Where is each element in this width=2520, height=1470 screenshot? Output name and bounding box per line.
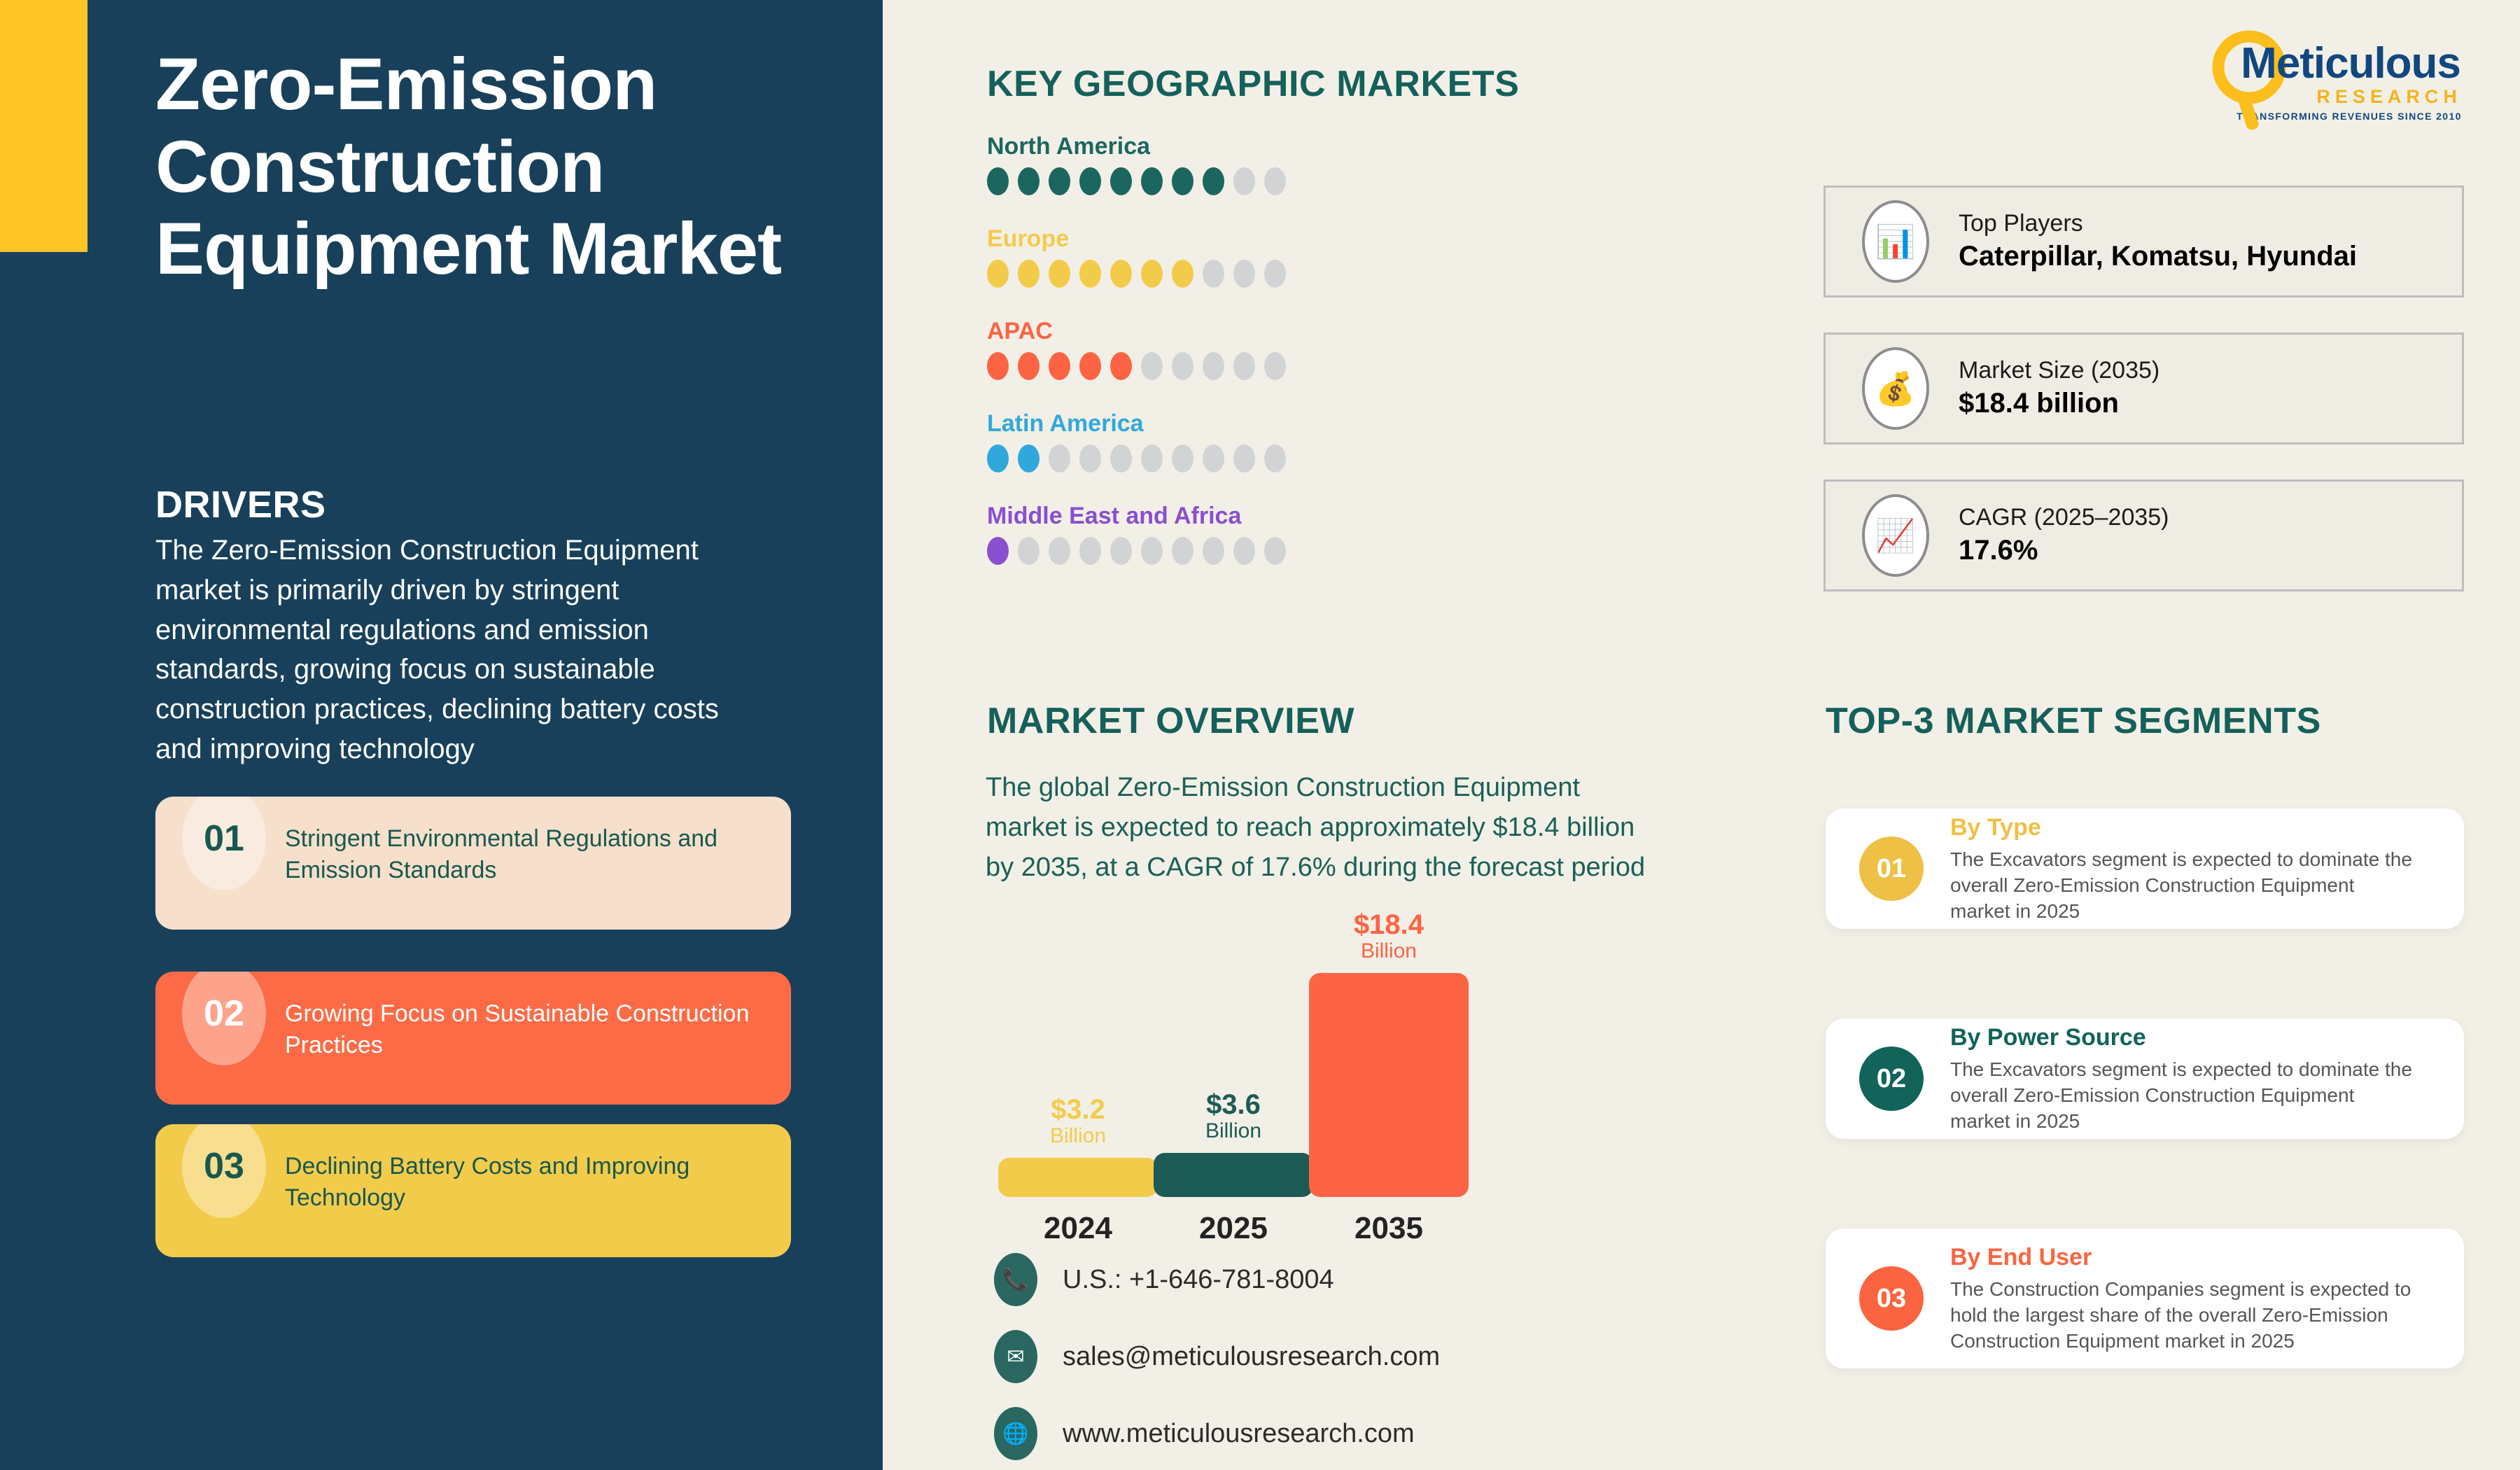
bar-unit-label: Billion [1361,939,1417,964]
driver-card-03[interactable]: 03Declining Battery Costs and Improving … [155,1124,791,1257]
bar-2025 [1154,1153,1313,1197]
chart-up-icon: 📈 [1862,494,1929,577]
geo-dot-filled [1049,167,1070,195]
segment-description: The Construction Companies segment is ex… [1950,1276,2412,1354]
stat-value: $18.4 billion [1959,386,2159,421]
geo-region-europe: Europe [987,225,1286,288]
driver-label: Stringent Environmental Regulations and … [285,823,768,886]
bar-2035 [1309,973,1469,1197]
segment-card-by-end-user[interactable]: 03By End UserThe Construction Companies … [1826,1228,2464,1368]
bar-2024 [998,1158,1158,1197]
driver-number: 02 [204,995,244,1032]
segment-heading: By End User [1950,1243,2412,1272]
segment-heading: By Type [1950,813,2412,842]
bar-chart-icon: 📊 [1862,200,1929,283]
geo-dot-empty [1203,260,1224,288]
driver-label: Declining Battery Costs and Improving Te… [285,1151,768,1214]
bar-value-label: $18.4 [1354,910,1424,939]
geo-region-latin-america: Latin America [987,410,1286,472]
contact-list: 📞U.S.: +1-646-781-8004✉sales@meticulousr… [994,1253,1440,1470]
driver-number-badge: 03 [182,1124,266,1218]
driver-number: 03 [204,1148,244,1184]
geo-dot-empty [1049,537,1070,565]
geo-region-north-america: North America [987,133,1286,195]
geo-dot-empty [1172,537,1193,565]
geo-dot-filled [1110,352,1132,380]
geo-dot-filled [1079,167,1101,195]
left-panel: Zero-Emission Construction Equipment Mar… [0,0,883,1470]
geo-dot-empty [1203,444,1224,472]
geo-dot-empty [1079,444,1101,472]
geo-region-label: Middle East and Africa [987,503,1286,530]
stat-value: Caterpillar, Komatsu, Hyundai [1959,239,2357,274]
drivers-heading: DRIVERS [155,483,326,526]
contact-row-email[interactable]: ✉sales@meticulousresearch.com [994,1330,1440,1383]
page-title: Zero-Emission Construction Equipment Mar… [155,43,827,290]
geo-dot-empty [1233,537,1255,565]
segment-number-badge: 03 [1859,1266,1924,1331]
driver-number-badge: 02 [182,972,266,1065]
drivers-body: The Zero-Emission Construction Equipment… [155,531,757,769]
geo-dot-empty [1141,352,1163,380]
geo-region-label: Europe [987,225,1286,253]
segments-title: TOP-3 MARKET SEGMENTS [1826,700,2321,742]
stat-label: CAGR (2025–2035) [1959,503,2169,533]
stat-card-top-players: 📊Top PlayersCaterpillar, Komatsu, Hyunda… [1823,185,2464,297]
bar-column-2024: $3.2Billion [998,1095,1158,1198]
bar-unit-label: Billion [1205,1119,1261,1144]
geo-dot-empty [1264,260,1286,288]
stat-card-market-size-2035: 💰Market Size (2035)$18.4 billion [1823,332,2464,444]
geo-dot-empty [1172,444,1193,472]
bar-value-label: $3.6 [1206,1090,1261,1119]
geo-dot-filled [1018,260,1039,288]
market-size-bar-chart: $3.2Billion2024$3.6Billion2025$18.4Billi… [986,938,1630,1246]
bar-category-label: 2035 [1309,1211,1469,1246]
globe-icon: 🌐 [994,1407,1037,1460]
bar-value-label: $3.2 [1051,1095,1105,1124]
contact-row-globe[interactable]: 🌐www.meticulousresearch.com [994,1407,1440,1460]
geo-region-apac: APAC [987,318,1286,380]
geo-dot-empty [1264,167,1286,195]
geo-dot-filled [1110,260,1132,288]
geo-region-middle-east-and-africa: Middle East and Africa [987,503,1286,565]
segment-number-badge: 01 [1859,836,1924,901]
geo-dot-filled [987,352,1009,380]
contact-text: www.meticulousresearch.com [1063,1419,1415,1449]
driver-number: 01 [204,820,244,857]
bar-column-2025: $3.6Billion [1154,1090,1313,1198]
geo-dot-empty [1233,167,1255,195]
meticulous-research-logo: Meticulous RESEARCH TRANSFORMING REVENUE… [2220,42,2481,123]
market-overview-body: The global Zero-Emission Construction Eq… [986,768,1658,888]
contact-row-phone[interactable]: 📞U.S.: +1-646-781-8004 [994,1253,1440,1306]
geo-dot-filled [1172,167,1193,195]
driver-number-badge: 01 [182,797,266,890]
segment-card-by-power-source[interactable]: 02By Power SourceThe Excavators segment … [1826,1018,2464,1139]
geo-dot-filled [1049,260,1070,288]
driver-label: Growing Focus on Sustainable Constructio… [285,998,768,1061]
geo-dot-filled [1079,352,1101,380]
geo-dot-row [987,167,1286,195]
geo-dot-row [987,537,1286,565]
geo-dot-empty [1264,537,1286,565]
geo-dot-empty [1233,260,1255,288]
geo-dot-filled [1141,260,1163,288]
geo-dot-empty [1203,352,1224,380]
geo-dot-filled [1018,167,1039,195]
geo-dot-filled [1110,167,1132,195]
geo-dot-filled [1172,260,1193,288]
geo-dot-empty [1141,537,1163,565]
stat-label: Top Players [1959,209,2357,239]
geo-dot-row [987,260,1286,288]
geo-region-label: Latin America [987,410,1286,437]
geo-dot-filled [987,537,1009,565]
bar-category-label: 2025 [1154,1211,1313,1246]
stat-label: Market Size (2035) [1959,356,2159,386]
geo-dot-filled [1141,167,1163,195]
geo-dot-empty [1049,444,1070,472]
segment-number-badge: 02 [1859,1046,1924,1111]
bar-unit-label: Billion [1050,1124,1106,1149]
phone-icon: 📞 [994,1253,1037,1306]
geo-dot-empty [1172,352,1193,380]
money-bag-icon: 💰 [1862,347,1929,430]
stat-value: 17.6% [1959,533,2169,568]
stat-card-cagr-2025-2035: 📈CAGR (2025–2035)17.6% [1823,479,2464,591]
geo-dot-empty [1018,537,1039,565]
geo-dot-empty [1110,537,1132,565]
segment-card-by-type[interactable]: 01By TypeThe Excavators segment is expec… [1826,808,2464,929]
driver-card-01[interactable]: 01Stringent Environmental Regulations an… [155,797,791,930]
segment-description: The Excavators segment is expected to do… [1950,846,2412,925]
bar-category-label: 2024 [998,1211,1158,1246]
geo-dot-filled [1018,444,1039,472]
geo-dot-row [987,352,1286,380]
geo-dot-filled [1018,352,1039,380]
geographic-markets-title: KEY GEOGRAPHIC MARKETS [987,63,1520,105]
geo-region-label: APAC [987,318,1286,345]
logo-wordmark: Meticulous [2236,42,2465,85]
geo-dot-empty [1233,352,1255,380]
segment-description: The Excavators segment is expected to do… [1950,1056,2412,1135]
segment-heading: By Power Source [1950,1023,2412,1052]
accent-bar [0,0,87,252]
geo-dot-empty [1079,537,1101,565]
geo-dot-empty [1233,444,1255,472]
infographic-page: Zero-Emission Construction Equipment Mar… [0,0,2520,1470]
market-overview-title: MARKET OVERVIEW [987,700,1354,742]
contact-text: sales@meticulousresearch.com [1063,1342,1440,1372]
geo-dot-row [987,444,1286,472]
geo-dot-empty [1141,444,1163,472]
geo-dot-empty [1264,352,1286,380]
geo-dot-empty [1110,444,1132,472]
geo-dot-filled [1079,260,1101,288]
email-icon: ✉ [994,1330,1037,1383]
contact-text: U.S.: +1-646-781-8004 [1063,1265,1334,1295]
bar-column-2035: $18.4Billion [1309,910,1469,1198]
geo-dot-empty [1264,444,1286,472]
geo-dot-filled [987,167,1009,195]
geo-dot-filled [1203,167,1224,195]
geo-dot-filled [1049,352,1070,380]
geo-dot-filled [987,444,1009,472]
geo-dot-empty [1203,537,1224,565]
driver-card-02[interactable]: 02Growing Focus on Sustainable Construct… [155,972,791,1105]
geo-dot-filled [987,260,1009,288]
geo-region-label: North America [987,133,1286,160]
